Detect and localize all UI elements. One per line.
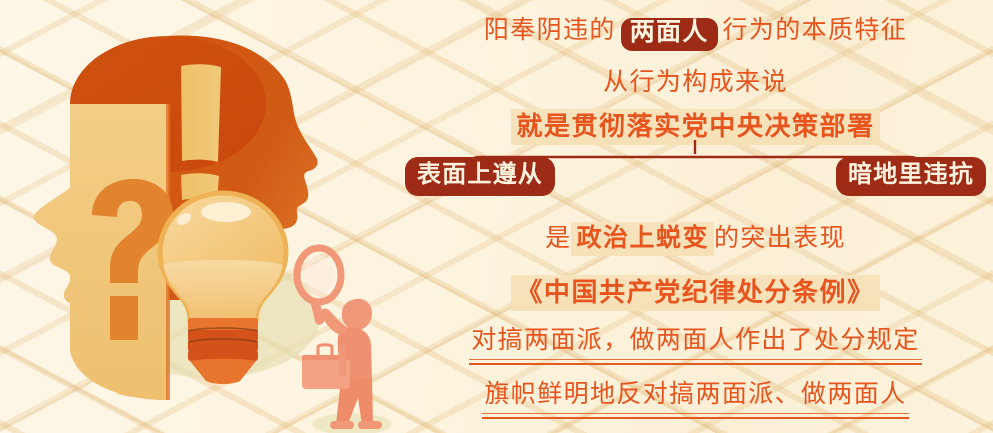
line5-suffix: 的突出表现 — [714, 225, 846, 252]
headline-line-7: 对搞两面派，做两面人作出了处分规定 — [398, 320, 993, 365]
underlined-line-8: 旗帜鲜明地反对搞两面派、做两面人 — [484, 374, 906, 419]
briefcase-icon — [302, 345, 350, 389]
headline-line-8: 旗帜鲜明地反对搞两面派、做两面人 — [398, 374, 993, 419]
branch-right: 暗地里违抗 — [831, 157, 991, 196]
bulb-highlight-large — [201, 202, 251, 222]
exclamation-mark — [181, 64, 221, 201]
headline-line-5: 是政治上蜕变的突出表现 — [398, 218, 993, 254]
badge-two-faced-person: 两面人 — [621, 18, 718, 51]
branch-left: 表面上遵从 — [400, 157, 560, 196]
badge-surface-compliance: 表面上遵从 — [405, 157, 555, 196]
badge-secret-defiance: 暗地里违抗 — [836, 157, 986, 196]
highlight-political-degeneration: 政治上蜕变 — [571, 222, 714, 256]
underlined-line-7: 对搞两面派，做两面人作出了处分规定 — [471, 320, 919, 365]
headline-line-6: 《中国共产党纪律处分条例》 — [398, 272, 993, 309]
person-head — [342, 299, 372, 330]
headline-line-1: 阳奉阴违的两面人行为的本质特征 — [398, 10, 993, 51]
highlight-regulation-title: 《中国共产党纪律处分条例》 — [511, 275, 879, 311]
headline-suffix: 行为的本质特征 — [723, 17, 908, 44]
head-light-profile — [34, 104, 168, 400]
headline-prefix: 阳奉阴违的 — [484, 17, 616, 44]
line5-prefix: 是 — [545, 225, 571, 252]
headline-line-3: 就是贯彻落实党中央决策部署 — [398, 106, 993, 143]
text-panel: 阳奉阴违的两面人行为的本质特征 从行为构成来说 就是贯彻落实党中央决策部署 表面… — [398, 0, 993, 433]
headline-line-2: 从行为构成来说 — [398, 62, 993, 98]
illustration-panel — [0, 0, 400, 433]
infographic-canvas: 阳奉阴违的两面人行为的本质特征 从行为构成来说 就是贯彻落实党中央决策部署 表面… — [0, 0, 993, 433]
